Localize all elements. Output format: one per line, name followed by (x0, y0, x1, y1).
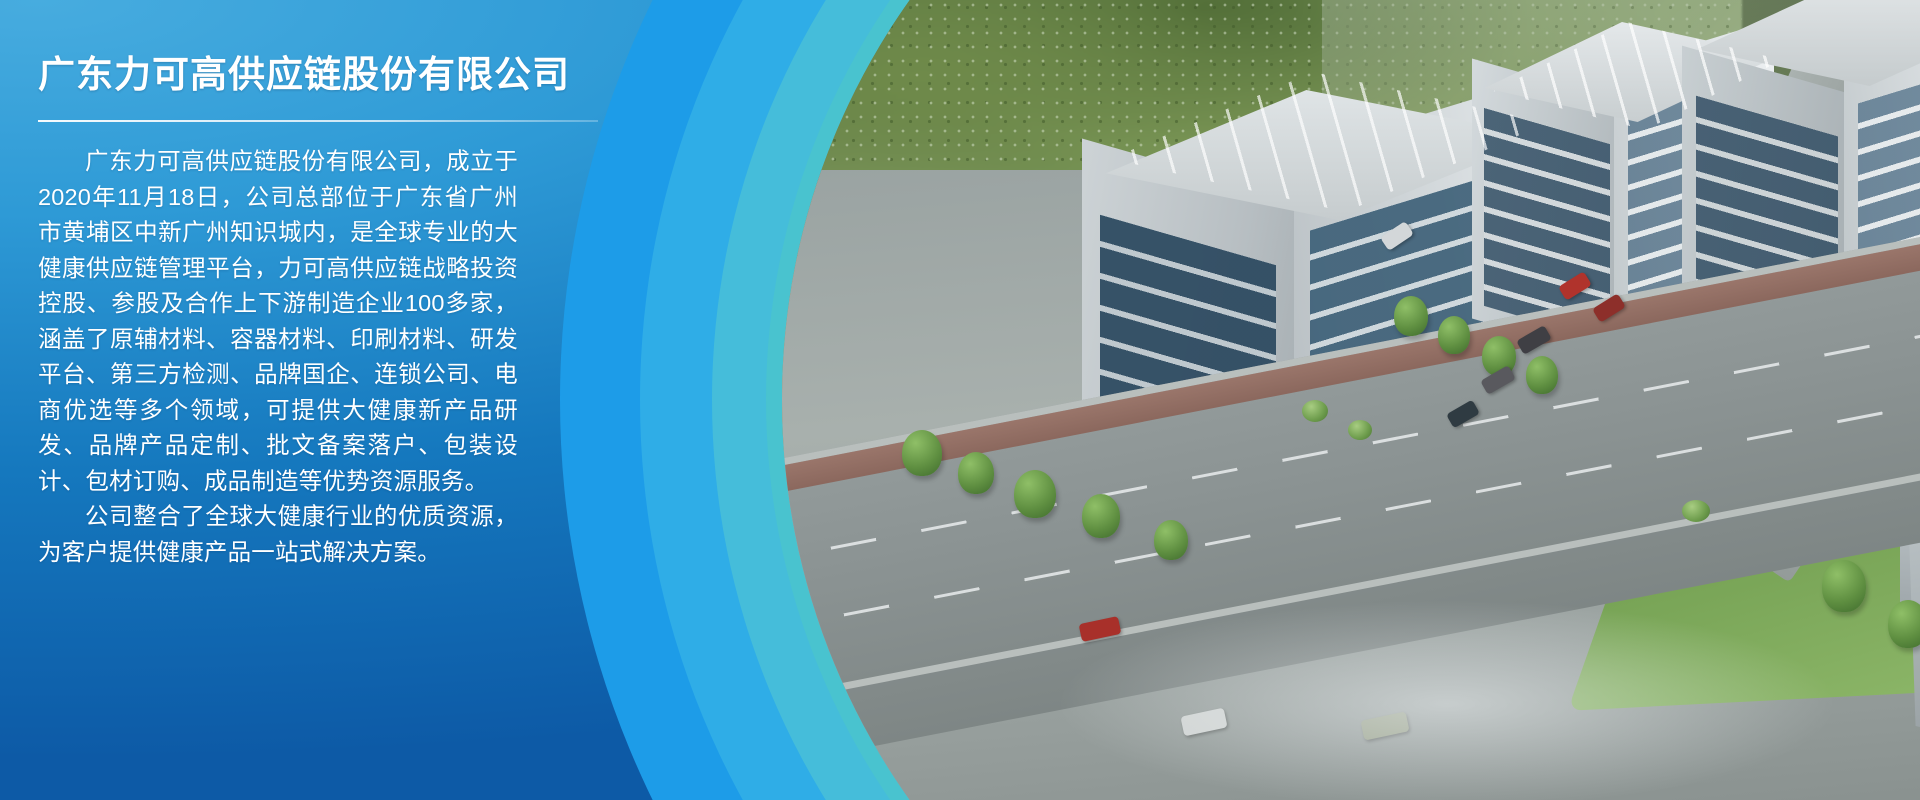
tree (1154, 520, 1188, 560)
company-description: 广东力可高供应链股份有限公司，成立于2020年11月18日，公司总部位于广东省广… (38, 144, 518, 570)
tree (1014, 470, 1056, 518)
tree (1526, 356, 1558, 394)
tree (1438, 316, 1470, 354)
tree (958, 452, 994, 494)
atmospheric-haze (1042, 560, 1920, 800)
paragraph-1: 广东力可高供应链股份有限公司，成立于2020年11月18日，公司总部位于广东省广… (38, 144, 518, 499)
text-content: 广东力可高供应链股份有限公司 广东力可高供应链股份有限公司，成立于2020年11… (0, 0, 620, 800)
tree (1082, 494, 1120, 538)
company-profile-banner: 广东力可高供应链股份有限公司 广东力可高供应链股份有限公司，成立于2020年11… (0, 0, 1920, 800)
tree (1394, 296, 1428, 336)
paragraph-2: 公司整合了全球大健康行业的优质资源，为客户提供健康产品一站式解决方案。 (38, 499, 518, 570)
bush (1348, 420, 1372, 440)
title-divider (38, 120, 598, 122)
bush (1302, 400, 1328, 422)
bush (1682, 500, 1710, 522)
aerial-photo-disc (782, 0, 1920, 800)
page-title: 广东力可高供应链股份有限公司 (38, 52, 620, 98)
tree (902, 430, 942, 476)
aerial-rendering-image (782, 0, 1920, 800)
